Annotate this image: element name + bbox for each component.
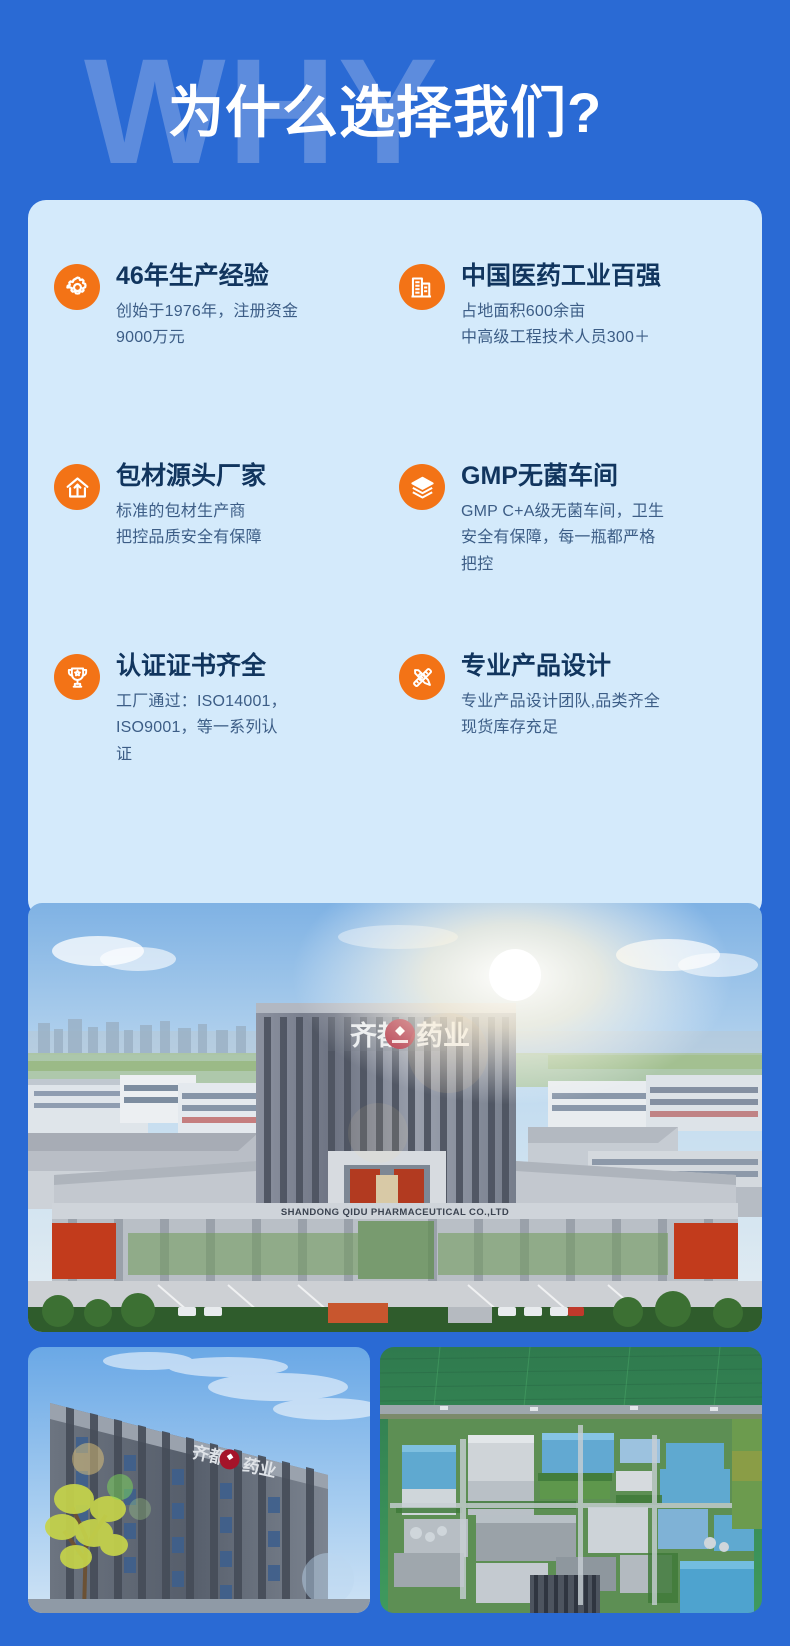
feature-desc-line: 中高级工程技术人员300＋ xyxy=(461,325,736,351)
feature-title: 包材源头厂家 xyxy=(116,462,391,491)
feature-text: GMP无菌车间 GMP C+A级无菌车间，卫生 安全有保障，每一瓶都严格 把控 xyxy=(461,462,736,578)
feature-desc-line: ISO9001，等一系列认 xyxy=(116,715,391,741)
aerial-factory-campus-photo xyxy=(380,1347,762,1613)
feature-text: 中国医药工业百强 占地面积600余亩 中高级工程技术人员300＋ xyxy=(461,262,736,352)
home-icon xyxy=(54,464,100,510)
feature-desc: 占地面积600余亩 中高级工程技术人员300＋ xyxy=(461,299,736,352)
feature-desc-line: 证 xyxy=(116,742,391,768)
feature-card-top100-pharma: 中国医药工业百强 占地面积600余亩 中高级工程技术人员300＋ xyxy=(399,262,736,462)
feature-desc-line: 安全有保障，每一瓶都严格 xyxy=(461,525,736,551)
feature-desc-line: 占地面积600余亩 xyxy=(461,299,736,325)
feature-text: 包材源头厂家 标准的包材生产商 把控品质安全有保障 xyxy=(116,462,391,552)
feature-desc-line: 创始于1976年，注册资金 xyxy=(116,299,391,325)
feature-desc: 专业产品设计团队,品类齐全 现货库存充足 xyxy=(461,689,736,742)
feature-card-product-design: 专业产品设计 专业产品设计团队,品类齐全 现货库存充足 xyxy=(399,652,736,852)
feature-title: 中国医药工业百强 xyxy=(461,262,736,291)
trophy-icon xyxy=(54,654,100,700)
feature-desc-line: GMP C+A级无菌车间，卫生 xyxy=(461,499,736,525)
feature-text: 46年生产经验 创始于1976年，注册资金 9000万元 xyxy=(116,262,391,352)
feature-title: 认证证书齐全 xyxy=(116,652,391,681)
layers-icon xyxy=(399,464,445,510)
feature-card-gmp-cleanroom: GMP无菌车间 GMP C+A级无菌车间，卫生 安全有保障，每一瓶都严格 把控 xyxy=(399,462,736,652)
feature-desc-line: 工厂通过：ISO14001， xyxy=(116,689,391,715)
why-choose-us-page: WHY 为什么选择我们? 46年生产经验 创始于1976年，注册资金 9000万… xyxy=(0,0,790,1646)
feature-text: 专业产品设计 专业产品设计团队,品类齐全 现货库存充足 xyxy=(461,652,736,742)
feature-title: 专业产品设计 xyxy=(461,652,736,681)
feature-desc-line: 标准的包材生产商 xyxy=(116,499,391,525)
design-tools-icon xyxy=(399,654,445,700)
page-title: 为什么选择我们? xyxy=(168,68,602,149)
features-grid: 46年生产经验 创始于1976年，注册资金 9000万元 xyxy=(28,200,762,918)
feature-card-production-experience: 46年生产经验 创始于1976年，注册资金 9000万元 xyxy=(54,262,391,462)
feature-card-packaging-source: 包材源头厂家 标准的包材生产商 把控品质安全有保障 xyxy=(54,462,391,652)
feature-desc-line: 9000万元 xyxy=(116,325,391,351)
page-header: WHY 为什么选择我们? xyxy=(0,0,790,200)
feature-card-certifications: 认证证书齐全 工厂通过：ISO14001， ISO9001，等一系列认 证 xyxy=(54,652,391,852)
feature-desc: 工厂通过：ISO14001， ISO9001，等一系列认 证 xyxy=(116,689,391,768)
feature-desc: 创始于1976年，注册资金 9000万元 xyxy=(116,299,391,352)
feature-title: GMP无菌车间 xyxy=(461,462,736,491)
feature-text: 认证证书齐全 工厂通过：ISO14001， ISO9001，等一系列认 证 xyxy=(116,652,391,768)
office-building-photo: 齐都 药业 xyxy=(28,1347,370,1613)
building-icon xyxy=(399,264,445,310)
gear-icon xyxy=(54,264,100,310)
features-panel: 46年生产经验 创始于1976年，注册资金 9000万元 xyxy=(28,200,762,918)
feature-desc-line: 把控 xyxy=(461,552,736,578)
feature-desc-line: 现货库存充足 xyxy=(461,715,736,741)
feature-desc: GMP C+A级无菌车间，卫生 安全有保障，每一瓶都严格 把控 xyxy=(461,499,736,578)
factory-headquarters-photo: 齐都 药业 SHANDONG QIDU PHARMACEUTICAL CO.,L… xyxy=(28,903,762,1332)
feature-desc-line: 把控品质安全有保障 xyxy=(116,525,391,551)
feature-desc-line: 专业产品设计团队,品类齐全 xyxy=(461,689,736,715)
feature-desc: 标准的包材生产商 把控品质安全有保障 xyxy=(116,499,391,552)
feature-title: 46年生产经验 xyxy=(116,262,391,291)
